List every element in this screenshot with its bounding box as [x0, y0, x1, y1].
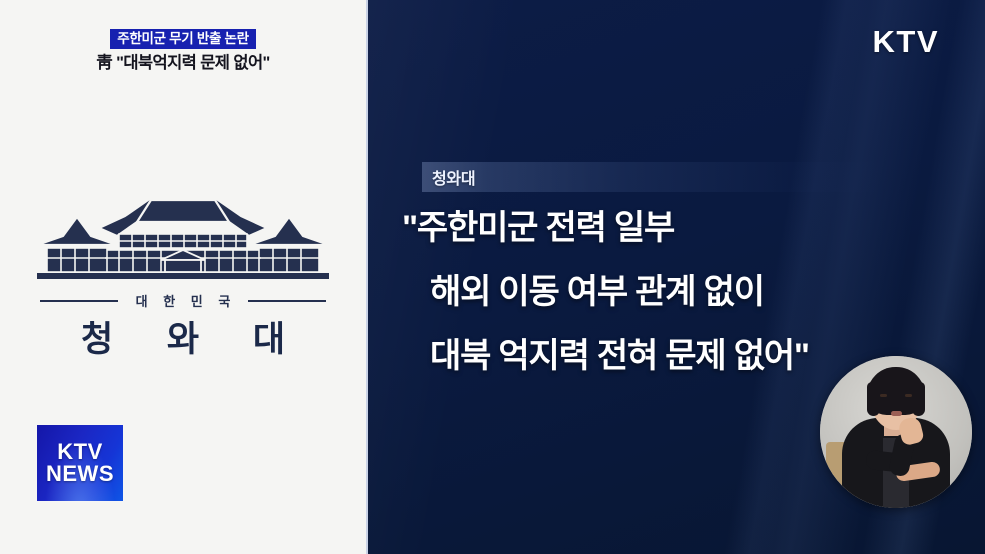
emblem-rule-right [248, 300, 326, 302]
interpreter-eye-right [905, 394, 912, 397]
blue-house-building-icon [33, 190, 333, 285]
source-bar: 청와대 [422, 162, 882, 192]
emblem-country-row: 대 한 민 국 [33, 291, 333, 310]
emblem-name-label: 청 와 대 [18, 320, 348, 360]
ktv-channel-watermark: KTV [873, 24, 940, 60]
interpreter-hair-right [912, 382, 925, 416]
ktv-news-logo-line2: NEWS [46, 463, 114, 485]
ktv-news-logo: KTV NEWS [37, 425, 123, 501]
emblem-rule-left [40, 300, 118, 302]
broadcast-screen: 주한미군 무기 반출 논란 靑 "대북억지력 문제 없어" [0, 0, 985, 554]
quote-line: 해외 이동 여부 관계 없이 [368, 260, 985, 324]
sign-language-interpreter-inset [820, 356, 972, 508]
headline-block: 주한미군 무기 반출 논란 靑 "대북억지력 문제 없어" [0, 29, 366, 73]
interpreter-hair-left [867, 382, 880, 416]
left-graphic-panel: 주한미군 무기 반출 논란 靑 "대북억지력 문제 없어" [0, 0, 366, 554]
source-label: 청와대 [422, 165, 475, 189]
emblem-country-label: 대 한 민 국 [118, 291, 249, 310]
ktv-news-logo-line1: KTV [57, 441, 103, 463]
interpreter-mouth [891, 411, 902, 416]
interpreter-eye-left [880, 394, 887, 397]
blue-house-emblem: 대 한 민 국 청 와 대 [18, 190, 348, 360]
headline-badge: 주한미군 무기 반출 논란 [110, 29, 256, 49]
headline-subtitle: 靑 "대북억지력 문제 없어" [0, 53, 366, 73]
quote-line: "주한미군 전력 일부 [368, 196, 985, 260]
